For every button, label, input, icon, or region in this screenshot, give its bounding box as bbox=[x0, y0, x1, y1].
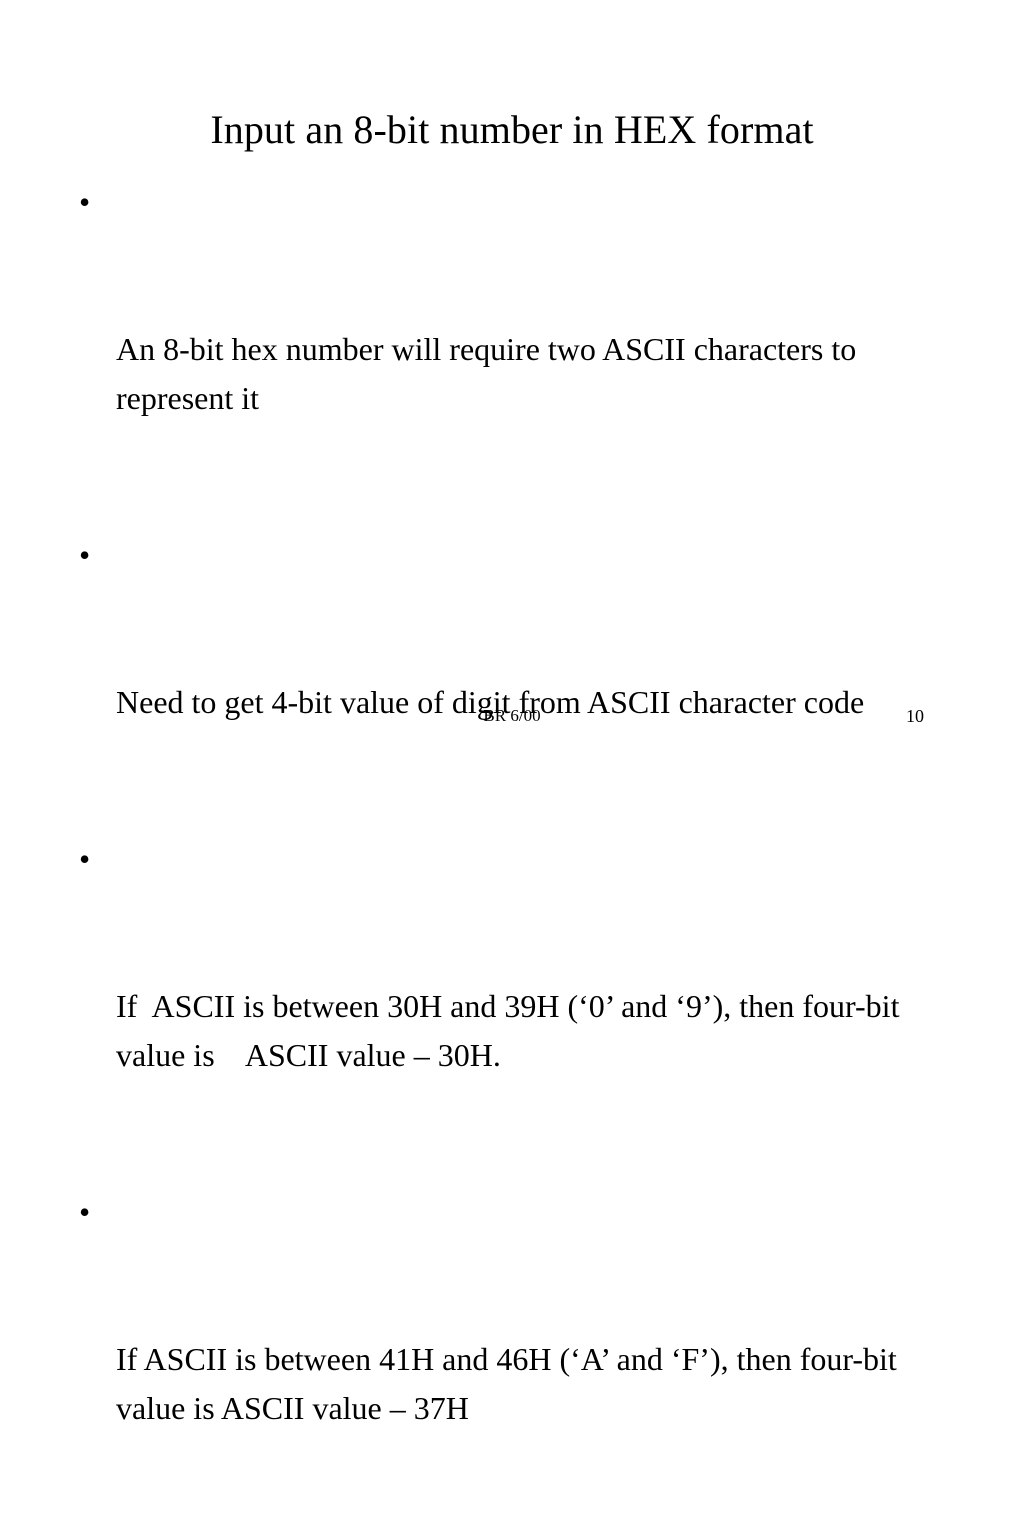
bullet-dot-icon: • bbox=[79, 178, 99, 227]
list-item: • If ASCII is between 41H and 46H (‘A’ a… bbox=[74, 1188, 934, 1531]
page-number: 10 bbox=[860, 704, 970, 728]
slide-footer: BR 6/00 10 bbox=[0, 704, 1024, 732]
bullet-dot-icon: • bbox=[79, 531, 99, 580]
bullet-dot-icon: • bbox=[79, 835, 99, 884]
list-item: • Need to get 4-bit value of digit from … bbox=[74, 531, 934, 825]
list-item-text: An 8-bit hex number will require two ASC… bbox=[116, 325, 934, 423]
slide-canvas: Input an 8-bit number in HEX format • An… bbox=[0, 0, 1024, 768]
bullet-dot-icon: • bbox=[79, 1188, 99, 1237]
bullet-list: • An 8-bit hex number will require two A… bbox=[74, 178, 934, 1531]
page-title: Input an 8-bit number in HEX format bbox=[60, 107, 964, 153]
list-item: • An 8-bit hex number will require two A… bbox=[74, 178, 934, 521]
list-item: • If ASCII is between 30H and 39H (‘0’ a… bbox=[74, 835, 934, 1178]
list-item-text: If ASCII is between 41H and 46H (‘A’ and… bbox=[116, 1335, 934, 1433]
list-item-text: If ASCII is between 30H and 39H (‘0’ and… bbox=[116, 982, 934, 1080]
